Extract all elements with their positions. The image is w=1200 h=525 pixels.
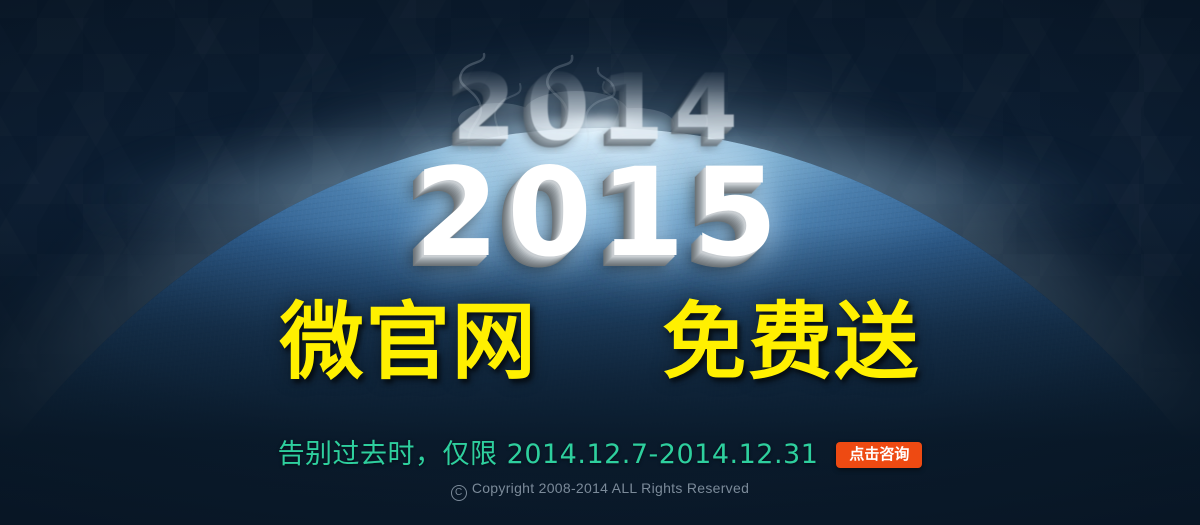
copyright-text: Copyright 2008-2014 ALL Rights Reserved [472, 480, 749, 496]
copyright-icon: C [451, 485, 467, 501]
copyright-notice: CCopyright 2008-2014 ALL Rights Reserved [0, 481, 1200, 501]
page-title: 微官网 免费送 [0, 300, 1200, 384]
promo-banner: 2014 2015 微官网 免费送 告别过去时，仅限 2014.12.7-201… [0, 0, 1200, 525]
promo-tagline: 告别过去时，仅限 2014.12.7-2014.12.31 [278, 441, 819, 468]
headline-part-1: 微官网 [280, 292, 538, 391]
new-year-label: 2015 [0, 152, 1200, 274]
promo-tagline-row: 告别过去时，仅限 2014.12.7-2014.12.31 点击咨询 [0, 441, 1200, 468]
consult-button[interactable]: 点击咨询 [836, 442, 922, 468]
headline-part-2: 免费送 [662, 292, 920, 391]
previous-year-label: 2014 [0, 62, 1200, 154]
